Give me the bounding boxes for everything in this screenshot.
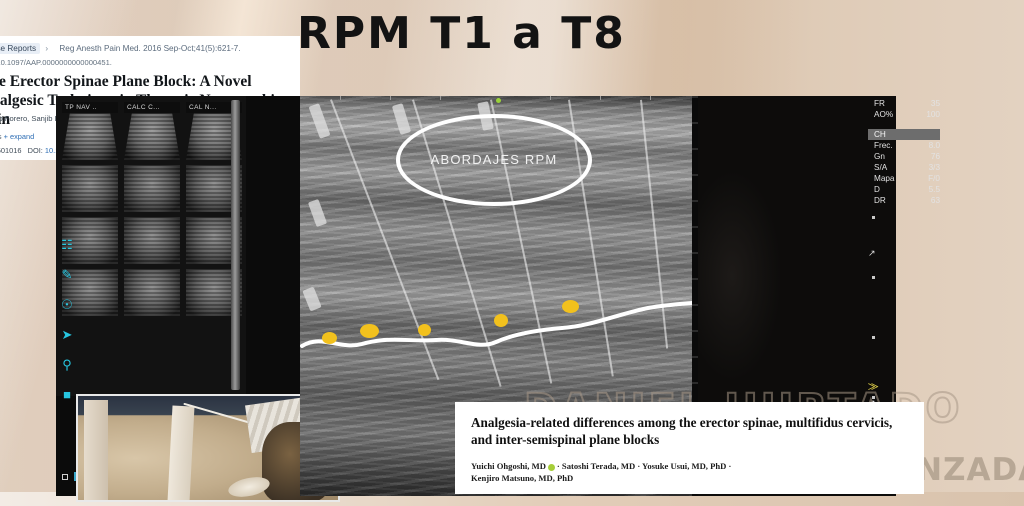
zoom-icon[interactable]: ⚲ [58,356,76,374]
doi-line: doi: 10.1097/AAP.0000000000000451. [0,58,112,67]
parameter-row[interactable]: MapaF/0 [868,173,946,184]
paper-title: Analgesia-related differences among the … [471,414,911,448]
thumbnail-image[interactable] [124,113,180,160]
thumbnail-image[interactable] [124,269,180,316]
thumbnail-image[interactable] [62,113,118,160]
journal-paper-card: Analgesia-related differences among the … [455,402,924,494]
photo-drape [84,400,108,500]
pubmed-citation-line: Case Reports › Reg Anesth Pain Med. 2016… [0,44,241,53]
annotate-icon[interactable]: ✎ [58,266,76,284]
parameter-value: 35 [914,98,940,109]
thumbnail-label: CALC C... [124,102,180,113]
parameter-row[interactable]: Frec.8.0 [868,140,946,151]
fascial-plane-overlay [300,284,692,364]
journal-citation: Reg Anesth Pain Med. 2016 Sep-Oct;41(5):… [59,44,240,53]
parameter-key: Gn [874,151,885,162]
thumbnail-rail[interactable]: TP NAV .. CALC C... CAL N... [56,96,246,396]
parameter-key: AO% [874,109,893,120]
parameter-row[interactable]: AO%100 [868,109,946,120]
parameter-row[interactable]: Gn76 [868,151,946,162]
annotation-ellipse: ABORDAJES RPM [396,114,592,206]
caliper-icon: ⨠ [868,381,881,392]
chevron-right-icon: › [45,44,48,53]
curve-indicator-icon: ↗ [868,248,876,259]
parameter-row[interactable]: D5.5 [868,184,946,195]
parameter-row[interactable]: S/A3/3 [868,162,946,173]
thumbnail-label: TP NAV .. [62,102,118,113]
parameter-value: F/0 [914,173,940,184]
paper-author-first: Yuichi Ohgoshi, MD [471,461,546,471]
needle-hub-marker [309,103,331,139]
layout-1x1-icon[interactable] [62,474,68,480]
transverse-process-marker [562,300,579,313]
pmid-label: PMID: 27501016 [0,146,21,155]
parameter-key: DR [874,195,886,206]
paper-authors: Yuichi Ohgoshi, MD· Satoshi Terada, MD ·… [471,460,911,484]
thumbnail-image[interactable] [124,165,180,212]
paper-authors-rest: · Satoshi Terada, MD · Yosuke Usui, MD, … [557,461,731,471]
image-top-ticks [300,96,692,102]
photo-dressing [227,474,272,500]
needle-hub-marker [308,199,327,227]
orcid-icon[interactable] [548,464,555,471]
left-tool-column[interactable]: ☷ ✎ ☉ ➤ ⚲ ■ [58,236,78,476]
transverse-process-marker [322,332,337,344]
transverse-process-marker [418,324,431,336]
pubmed-affiliations-row: Affiliations + expand [0,132,34,141]
parameter-gap [868,120,946,129]
parameter-key: CH [874,129,886,140]
parameter-key: Mapa [874,173,894,184]
arrow-pointer-icon[interactable]: ➤ [58,326,76,344]
paper-authors-line2: Kenjiro Matsuno, MD, PhD [471,473,573,483]
parameter-row[interactable]: FR35 [868,98,946,109]
parameter-key: D [874,184,880,195]
parameter-value: 3/3 [914,162,940,173]
parameter-value: 63 [914,195,940,206]
parameter-value: 5.5 [914,184,940,195]
parameter-value: 100 [914,109,940,120]
annotation-ellipse-label: ABORDAJES RPM [400,152,588,167]
store-icon[interactable]: ■ [58,386,76,404]
thumbnail-image[interactable] [62,165,118,212]
photo-tape-strip [168,405,195,502]
needle-hub-marker [392,103,411,135]
thumbnail-image[interactable] [124,217,180,264]
parameter-key: FR [874,98,885,109]
parameter-key: S/A [874,162,887,173]
affiliations-label: Affiliations [0,132,2,141]
publication-type-badge[interactable]: Case Reports [0,43,40,54]
body-pattern-icon[interactable]: ☉ [58,296,76,314]
parameter-row[interactable]: DR63 [868,195,946,206]
parameter-value: 8.0 [914,140,940,151]
thumbnail-scrollbar[interactable] [231,100,240,390]
thumbnail-column-2[interactable]: CALC C... [124,102,180,321]
parameter-key: Frec. [874,140,893,151]
slide-title: RPM T1 a T8 [297,8,626,59]
transverse-process-marker [360,324,379,338]
transverse-process-marker [494,314,508,327]
parameter-row[interactable]: CH [868,129,940,140]
measure-icon[interactable]: ☷ [58,236,76,254]
doi-label: DOI: [28,146,43,155]
expand-button[interactable]: + expand [4,132,35,141]
ultrasound-parameter-list: FR35AO%100CHFrec.8.0Gn76S/A3/3MapaF/0D5.… [868,98,946,206]
parameter-value: 76 [914,151,940,162]
